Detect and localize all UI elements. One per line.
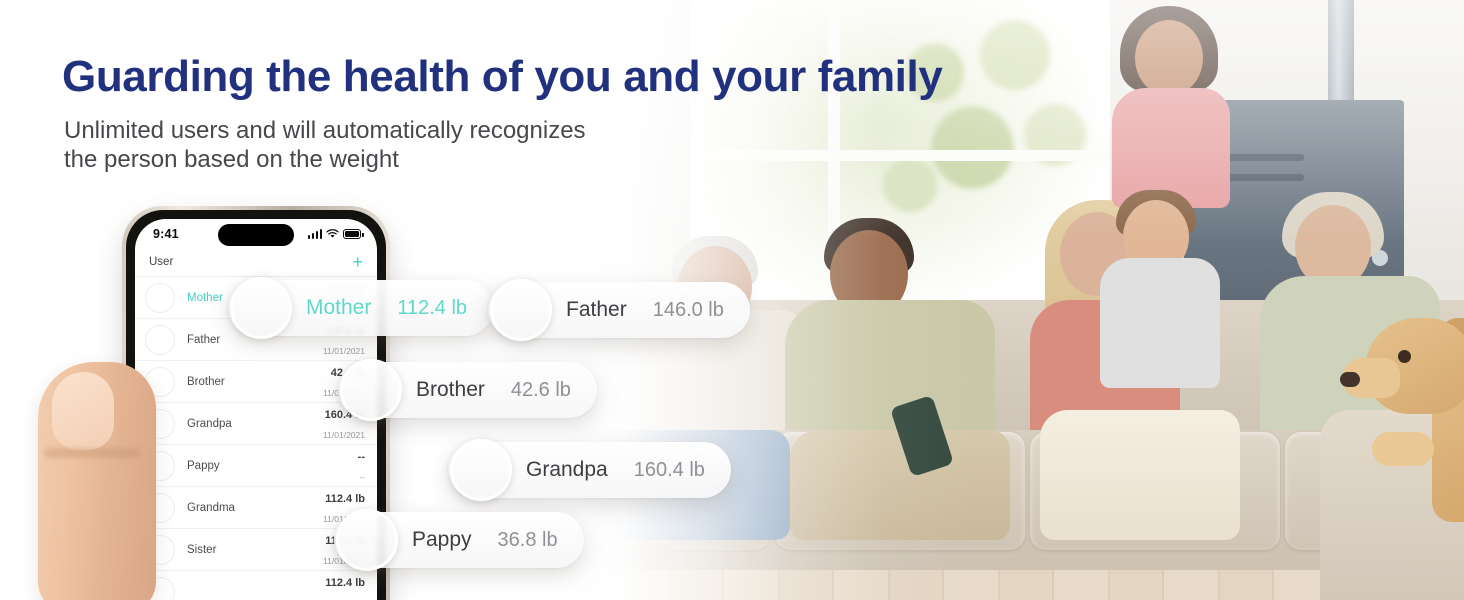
user-date: 11/01/2021 <box>323 346 365 356</box>
page-title: Guarding the health of you and your fami… <box>62 52 942 102</box>
user-weight: 42.6 lb <box>511 379 571 402</box>
wifi-icon <box>326 229 339 239</box>
user-weight: 160.4 lb <box>634 459 705 482</box>
user-card-grandpa[interactable]: Grandpa160.4 lb <box>448 442 731 498</box>
cellular-signal-icon <box>308 229 323 239</box>
promo-banner: Guarding the health of you and your fami… <box>0 0 1464 600</box>
user-list-item[interactable]: 112.4 lb11/01/2021 <box>135 571 377 600</box>
avatar <box>145 283 175 313</box>
page-subtitle: Unlimited users and will automatically r… <box>64 116 586 174</box>
status-time: 9:41 <box>153 227 179 241</box>
dynamic-island <box>218 224 294 246</box>
avatar <box>450 439 512 501</box>
user-weight: 36.8 lb <box>498 529 558 552</box>
user-name: Brother <box>187 376 323 388</box>
battery-full-icon <box>343 229 361 239</box>
user-name: Father <box>566 298 627 322</box>
user-card-mother[interactable]: Mother112.4 lb <box>228 280 493 336</box>
avatar <box>490 279 552 341</box>
user-measurement: 112.4 lb11/01/2021 <box>323 572 365 600</box>
user-measurement: ---- <box>358 446 365 486</box>
avatar <box>336 509 398 571</box>
user-weight: 112.4 lb <box>397 297 467 320</box>
user-list-item[interactable]: Grandpa160.4 lb11/01/2021 <box>135 403 377 445</box>
thumbnail-highlight <box>52 372 114 450</box>
user-card-brother[interactable]: Brother42.6 lb <box>338 362 597 418</box>
user-card-pappy[interactable]: Pappy36.8 lb <box>334 512 584 568</box>
user-date: -- <box>359 472 365 482</box>
user-name: Mother <box>306 296 371 320</box>
user-card-father[interactable]: Father146.0 lb <box>488 282 750 338</box>
user-list-title: User <box>149 256 173 268</box>
thumb-crease <box>44 448 140 458</box>
avatar <box>340 359 402 421</box>
user-weight: 112.4 lb <box>325 493 365 505</box>
user-name: Pappy <box>412 528 472 552</box>
user-name: Grandma <box>187 502 323 514</box>
user-list-item[interactable]: Pappy---- <box>135 445 377 487</box>
user-weight: 112.4 lb <box>325 577 365 589</box>
user-weight: -- <box>358 451 365 463</box>
avatar <box>145 325 175 355</box>
user-name: Grandpa <box>187 418 323 430</box>
user-name: Pappy <box>187 460 358 472</box>
avatar <box>230 277 292 339</box>
user-weight: 146.0 lb <box>653 299 724 322</box>
status-indicators <box>308 229 362 239</box>
user-name: Grandpa <box>526 458 608 482</box>
user-list-header: User + <box>135 249 377 277</box>
status-bar: 9:41 <box>135 219 377 249</box>
add-user-button[interactable]: + <box>352 255 363 269</box>
user-name: Brother <box>416 378 485 402</box>
user-date: 11/01/2021 <box>323 430 365 440</box>
user-name: Sister <box>187 544 323 556</box>
